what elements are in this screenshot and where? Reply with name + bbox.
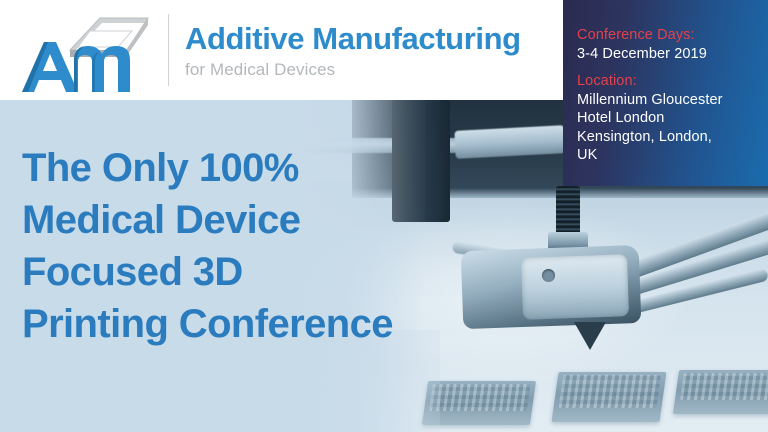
conference-days-label: Conference Days: bbox=[577, 26, 758, 45]
location-label: Location: bbox=[577, 72, 758, 91]
hot-end-face bbox=[521, 254, 629, 320]
location-line-1: Millennium Gloucester bbox=[577, 91, 758, 110]
headline-line-2: Medical Device bbox=[22, 194, 492, 246]
hot-end-hole bbox=[542, 269, 555, 282]
headline: The Only 100% Medical Device Focused 3D … bbox=[22, 142, 492, 350]
header-bar: Additive Manufacturing for Medical Devic… bbox=[0, 0, 563, 100]
headline-line-3: Focused 3D bbox=[22, 246, 492, 298]
headline-line-1: The Only 100% bbox=[22, 142, 492, 194]
location-value: Millennium Gloucester Hotel London Kensi… bbox=[577, 91, 758, 165]
am-3d-printer-logo-icon[interactable] bbox=[14, 4, 164, 96]
logo-divider bbox=[168, 14, 169, 86]
logo-text-block: Additive Manufacturing for Medical Devic… bbox=[185, 23, 521, 78]
printed-part-2 bbox=[551, 372, 666, 422]
conference-info-panel: Conference Days: 3-4 December 2019 Locat… bbox=[563, 0, 768, 186]
nozzle-icon bbox=[574, 322, 606, 350]
conference-banner: Additive Manufacturing for Medical Devic… bbox=[0, 0, 768, 432]
brand-title: Additive Manufacturing bbox=[185, 23, 521, 54]
printed-part-3 bbox=[673, 370, 768, 414]
location-line-4: UK bbox=[577, 146, 758, 165]
conference-days-value: 3-4 December 2019 bbox=[577, 45, 758, 64]
headline-line-4: Printing Conference bbox=[22, 298, 492, 350]
threaded-screw bbox=[556, 186, 580, 238]
brand-subtitle: for Medical Devices bbox=[185, 61, 521, 78]
location-line-3: Kensington, London, bbox=[577, 128, 758, 147]
location-line-2: Hotel London bbox=[577, 109, 758, 128]
